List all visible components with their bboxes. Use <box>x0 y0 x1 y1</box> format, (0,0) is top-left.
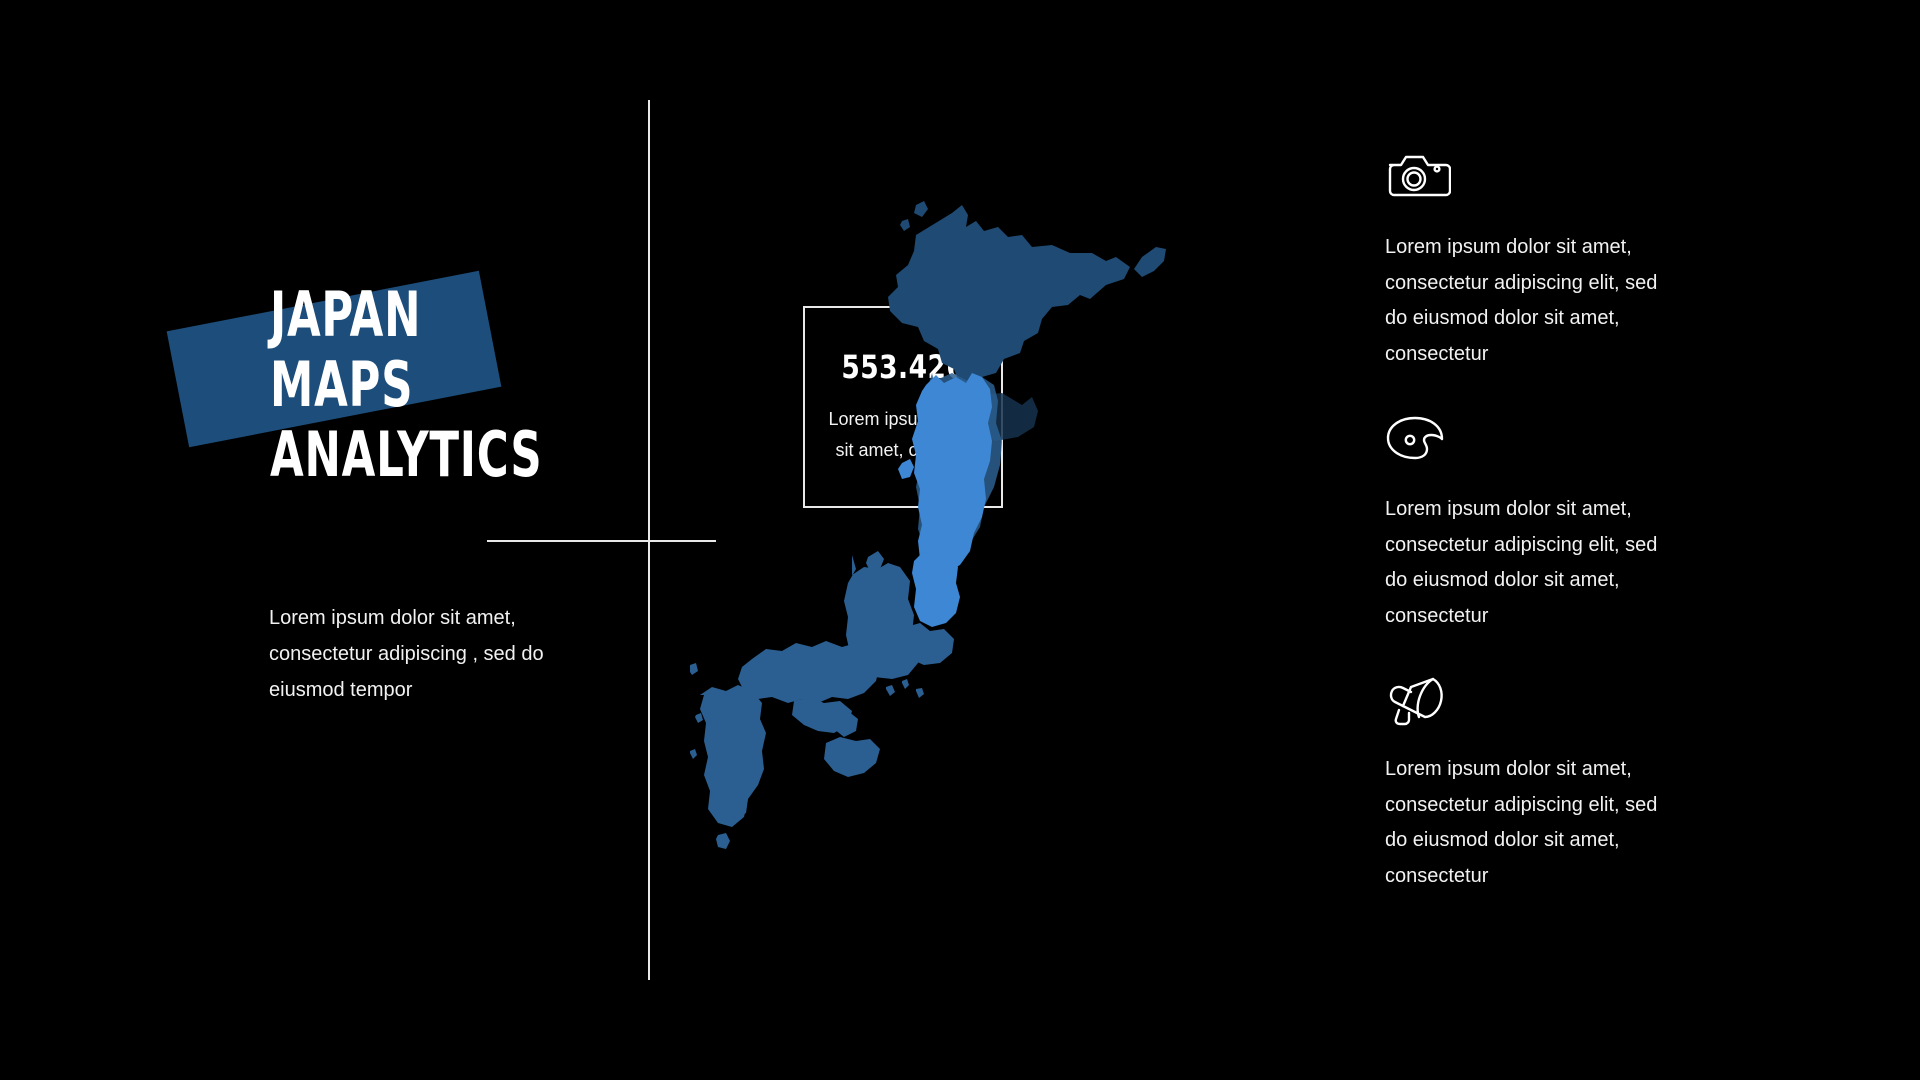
title-line-2: MAPS <box>270 350 542 420</box>
title-block: JAPAN MAPS ANALYTICS <box>190 280 620 500</box>
horizontal-divider <box>487 540 716 542</box>
page-title: JAPAN MAPS ANALYTICS <box>270 280 542 490</box>
camera-icon <box>1385 148 1451 202</box>
feature-text: Lorem ipsum dolor sit amet, consectetur … <box>1385 752 1685 894</box>
title-line-1: JAPAN <box>270 280 542 350</box>
map-region-shikoku[interactable] <box>824 737 880 777</box>
map-region-tohoku[interactable] <box>898 373 1002 627</box>
feature-item: Lorem ipsum dolor sit amet, consectetur … <box>1385 412 1705 634</box>
title-line-3: ANALYTICS <box>270 420 542 490</box>
japan-map[interactable] <box>690 195 1350 895</box>
feature-text: Lorem ipsum dolor sit amet, consectetur … <box>1385 230 1685 372</box>
megaphone-icon <box>1385 674 1451 728</box>
slide-canvas: JAPAN MAPS ANALYTICS Lorem ipsum dolor s… <box>0 0 1920 1080</box>
map-region-kyushu[interactable] <box>700 685 766 849</box>
feature-item: Lorem ipsum dolor sit amet, consectetur … <box>1385 674 1705 894</box>
feature-text: Lorem ipsum dolor sit amet, consectetur … <box>1385 492 1685 634</box>
feature-list: Lorem ipsum dolor sit amet, consectetur … <box>1385 148 1705 934</box>
map-region-hokkaido[interactable] <box>888 201 1166 391</box>
feature-item: Lorem ipsum dolor sit amet, consectetur … <box>1385 148 1705 372</box>
palette-icon <box>1385 412 1451 466</box>
intro-paragraph: Lorem ipsum dolor sit amet, consectetur … <box>269 600 599 708</box>
